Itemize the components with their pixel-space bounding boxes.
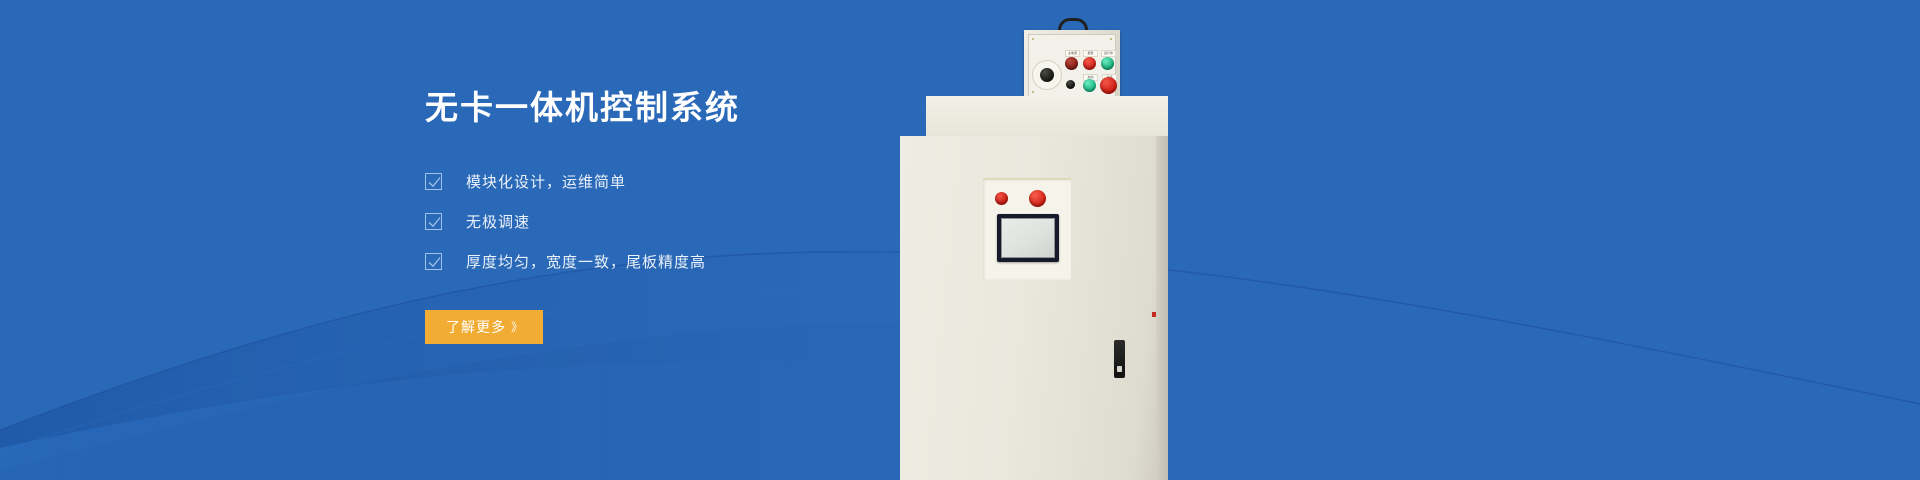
button-black-small[interactable] xyxy=(1066,80,1075,89)
cabinet-door-lock[interactable] xyxy=(1114,340,1125,378)
lamp-red[interactable] xyxy=(1083,57,1096,70)
learn-more-button[interactable]: 了解更多 》 xyxy=(425,310,543,344)
rotary-selector-knob[interactable] xyxy=(1032,60,1062,90)
feature-list: 模块化设计，运维简单 无极调速 厚度均匀，宽度一致，尾板精度高 xyxy=(425,172,1045,272)
checkbox-icon xyxy=(425,213,442,230)
lamp-green[interactable] xyxy=(1101,57,1114,70)
feature-label: 厚度均匀，宽度一致，尾板精度高 xyxy=(466,251,706,272)
lamp-dark-red[interactable] xyxy=(1065,57,1078,70)
feature-label: 模块化设计，运维简单 xyxy=(466,171,626,192)
list-item: 无极调速 xyxy=(425,212,1045,232)
button-green-start[interactable] xyxy=(1083,79,1096,92)
lamp-label: 运行中 xyxy=(1101,50,1116,57)
screw-icon xyxy=(1110,38,1112,40)
screw-icon xyxy=(1032,38,1034,40)
page-title: 无卡一体机控制系统 xyxy=(425,88,1045,128)
lamp-label: 报警 xyxy=(1083,50,1098,57)
checkbox-icon xyxy=(425,253,442,270)
cabinet-side-face xyxy=(1156,136,1168,480)
hero-banner: 无卡一体机控制系统 模块化设计，运维简单 无极调速 xyxy=(0,0,1920,480)
checkbox-icon xyxy=(425,173,442,190)
button-red-estop[interactable] xyxy=(1100,77,1117,94)
learn-more-label: 了解更多 xyxy=(446,317,506,337)
list-item: 模块化设计，运维简单 xyxy=(425,172,1045,192)
lamp-label: 主电源 xyxy=(1065,50,1080,57)
feature-label: 无极调速 xyxy=(466,211,530,232)
list-item: 厚度均匀，宽度一致，尾板精度高 xyxy=(425,252,1045,272)
hero-content: 无卡一体机控制系统 模块化设计，运维简单 无极调速 xyxy=(425,88,1045,344)
chevron-right-icon: 》 xyxy=(511,318,522,335)
